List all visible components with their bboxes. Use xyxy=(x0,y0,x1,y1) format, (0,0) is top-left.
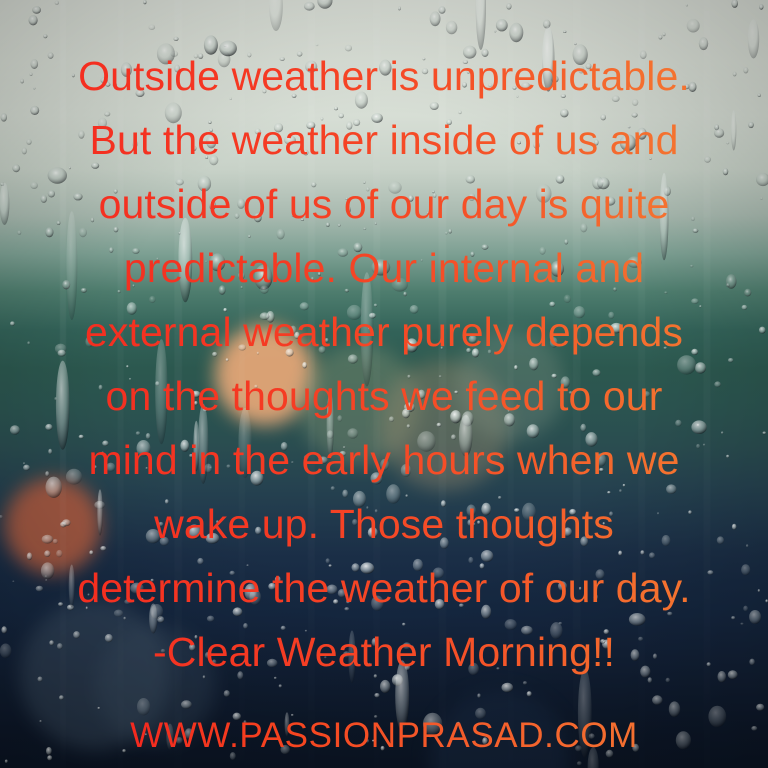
quote-line: outside of us of our day is quite xyxy=(0,172,768,236)
quote-block: Outside weather is unpredictable. But th… xyxy=(0,44,768,684)
quote-line: determine the weather of our day. xyxy=(0,556,768,620)
website-url: WWW.PASSIONPRASAD.COM xyxy=(130,714,638,758)
quote-line: mind in the early hours when we xyxy=(0,428,768,492)
quote-line: external weather purely depends xyxy=(0,300,768,364)
quote-line: Outside weather is unpredictable. xyxy=(0,44,768,108)
content-layer: Outside weather is unpredictable. But th… xyxy=(0,0,768,768)
quote-line: wake up. Those thoughts xyxy=(0,492,768,556)
quote-line: But the weather inside of us and xyxy=(0,108,768,172)
quote-attribution: -Clear Weather Morning!! xyxy=(0,620,768,684)
quote-line: predictable. Our internal and xyxy=(0,236,768,300)
quote-line: on the thoughts we feed to our xyxy=(0,364,768,428)
quote-image: Outside weather is unpredictable. But th… xyxy=(0,0,768,768)
